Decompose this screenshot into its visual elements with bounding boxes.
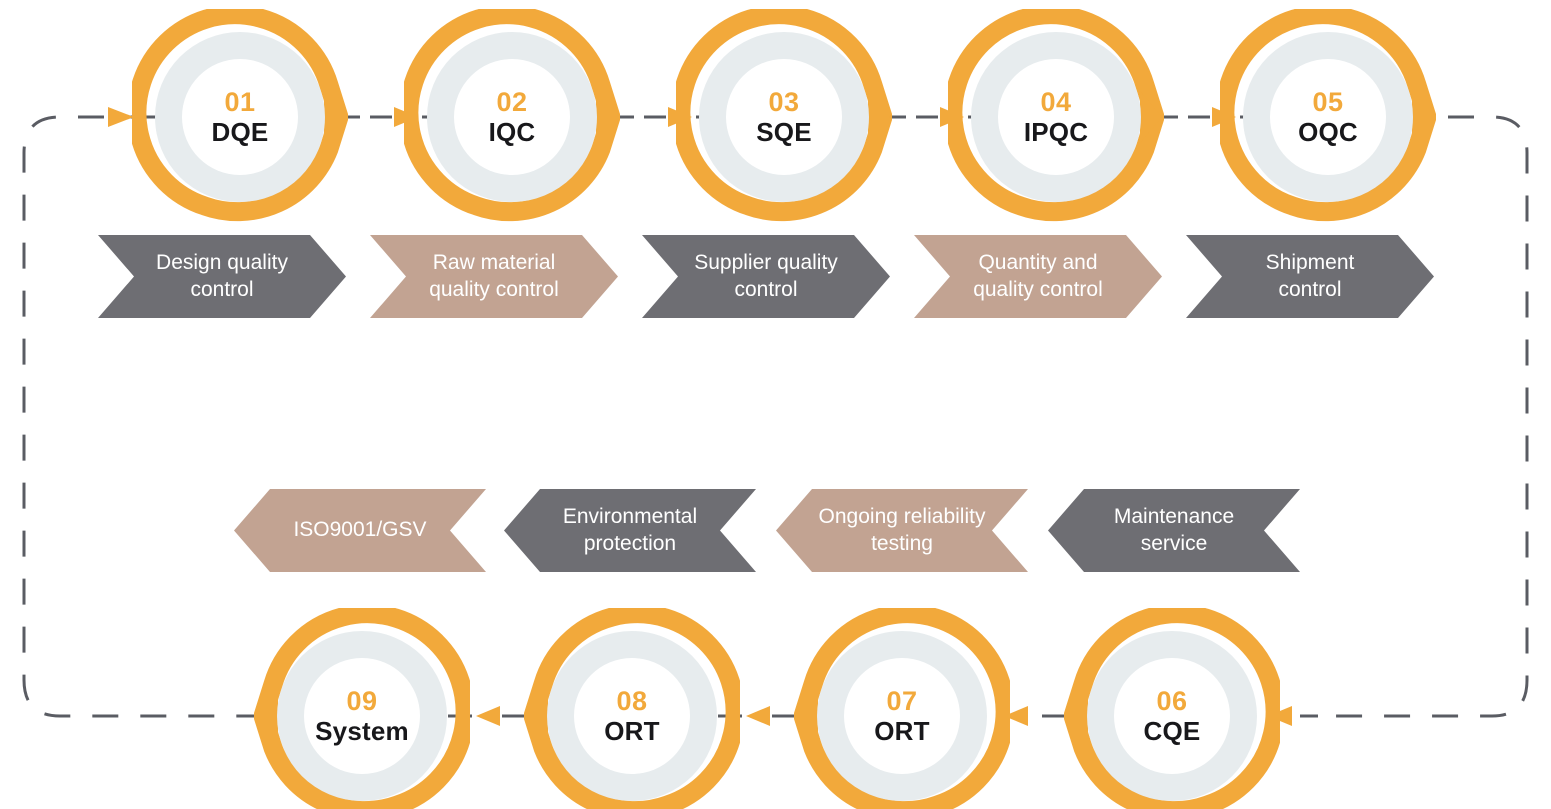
process-node-03[interactable]: 03 SQE <box>694 27 874 207</box>
node-number: 06 <box>1156 687 1187 716</box>
node-number: 04 <box>1040 88 1071 117</box>
node-core: 08 ORT <box>574 658 690 774</box>
node-label: CQE <box>1144 717 1201 745</box>
node-label: ORT <box>874 717 929 745</box>
process-node-08[interactable]: 08 ORT <box>542 626 722 806</box>
banner-design-quality-control[interactable]: Design quality control <box>98 235 346 318</box>
process-node-05[interactable]: 05 OQC <box>1238 27 1418 207</box>
banner-text: Design quality control <box>156 250 288 304</box>
banner-raw-material-quality-control[interactable]: Raw material quality control <box>370 235 618 318</box>
banner-text: ISO9001/GSV <box>293 517 426 544</box>
node-number: 02 <box>496 88 527 117</box>
banner-maintenance-service[interactable]: Maintenance service <box>1048 489 1300 572</box>
banner-environmental-protection[interactable]: Environmental protection <box>504 489 756 572</box>
node-label: DQE <box>212 118 269 146</box>
banner-text: Maintenance service <box>1114 504 1234 558</box>
banner-text: Ongoing reliability testing <box>819 504 986 558</box>
process-node-09[interactable]: 09 System <box>272 626 452 806</box>
process-flow-diagram: 01 DQE 02 IQC 03 SQE 04 <box>0 0 1551 809</box>
process-node-02[interactable]: 02 IQC <box>422 27 602 207</box>
node-label: SQE <box>756 118 812 146</box>
process-node-01[interactable]: 01 DQE <box>150 27 330 207</box>
node-core: 04 IPQC <box>998 59 1114 175</box>
banner-text: Supplier quality control <box>694 250 838 304</box>
banner-shipment-control[interactable]: Shipment control <box>1186 235 1434 318</box>
node-label: OQC <box>1298 118 1358 146</box>
node-number: 08 <box>616 687 647 716</box>
node-label: IQC <box>489 118 536 146</box>
process-node-04[interactable]: 04 IPQC <box>966 27 1146 207</box>
banner-text: Environmental protection <box>563 504 697 558</box>
banner-iso9001-gsv[interactable]: ISO9001/GSV <box>234 489 486 572</box>
node-number: 03 <box>768 88 799 117</box>
node-number: 01 <box>224 88 255 117</box>
node-core: 09 System <box>304 658 420 774</box>
node-core: 06 CQE <box>1114 658 1230 774</box>
banner-text: Shipment control <box>1266 250 1355 304</box>
node-number: 07 <box>886 687 917 716</box>
node-number: 05 <box>1312 88 1343 117</box>
banner-text: Raw material quality control <box>429 250 559 304</box>
banner-text: Quantity and quality control <box>973 250 1103 304</box>
node-core: 05 OQC <box>1270 59 1386 175</box>
banner-ongoing-reliability-testing[interactable]: Ongoing reliability testing <box>776 489 1028 572</box>
node-number: 09 <box>346 687 377 716</box>
node-label: ORT <box>604 717 659 745</box>
node-label: IPQC <box>1024 118 1088 146</box>
node-label: System <box>315 717 409 745</box>
process-node-06[interactable]: 06 CQE <box>1082 626 1262 806</box>
process-node-07[interactable]: 07 ORT <box>812 626 992 806</box>
node-core: 07 ORT <box>844 658 960 774</box>
node-core: 01 DQE <box>182 59 298 175</box>
node-core: 03 SQE <box>726 59 842 175</box>
banner-supplier-quality-control[interactable]: Supplier quality control <box>642 235 890 318</box>
banner-quantity-and-quality-control[interactable]: Quantity and quality control <box>914 235 1162 318</box>
node-core: 02 IQC <box>454 59 570 175</box>
